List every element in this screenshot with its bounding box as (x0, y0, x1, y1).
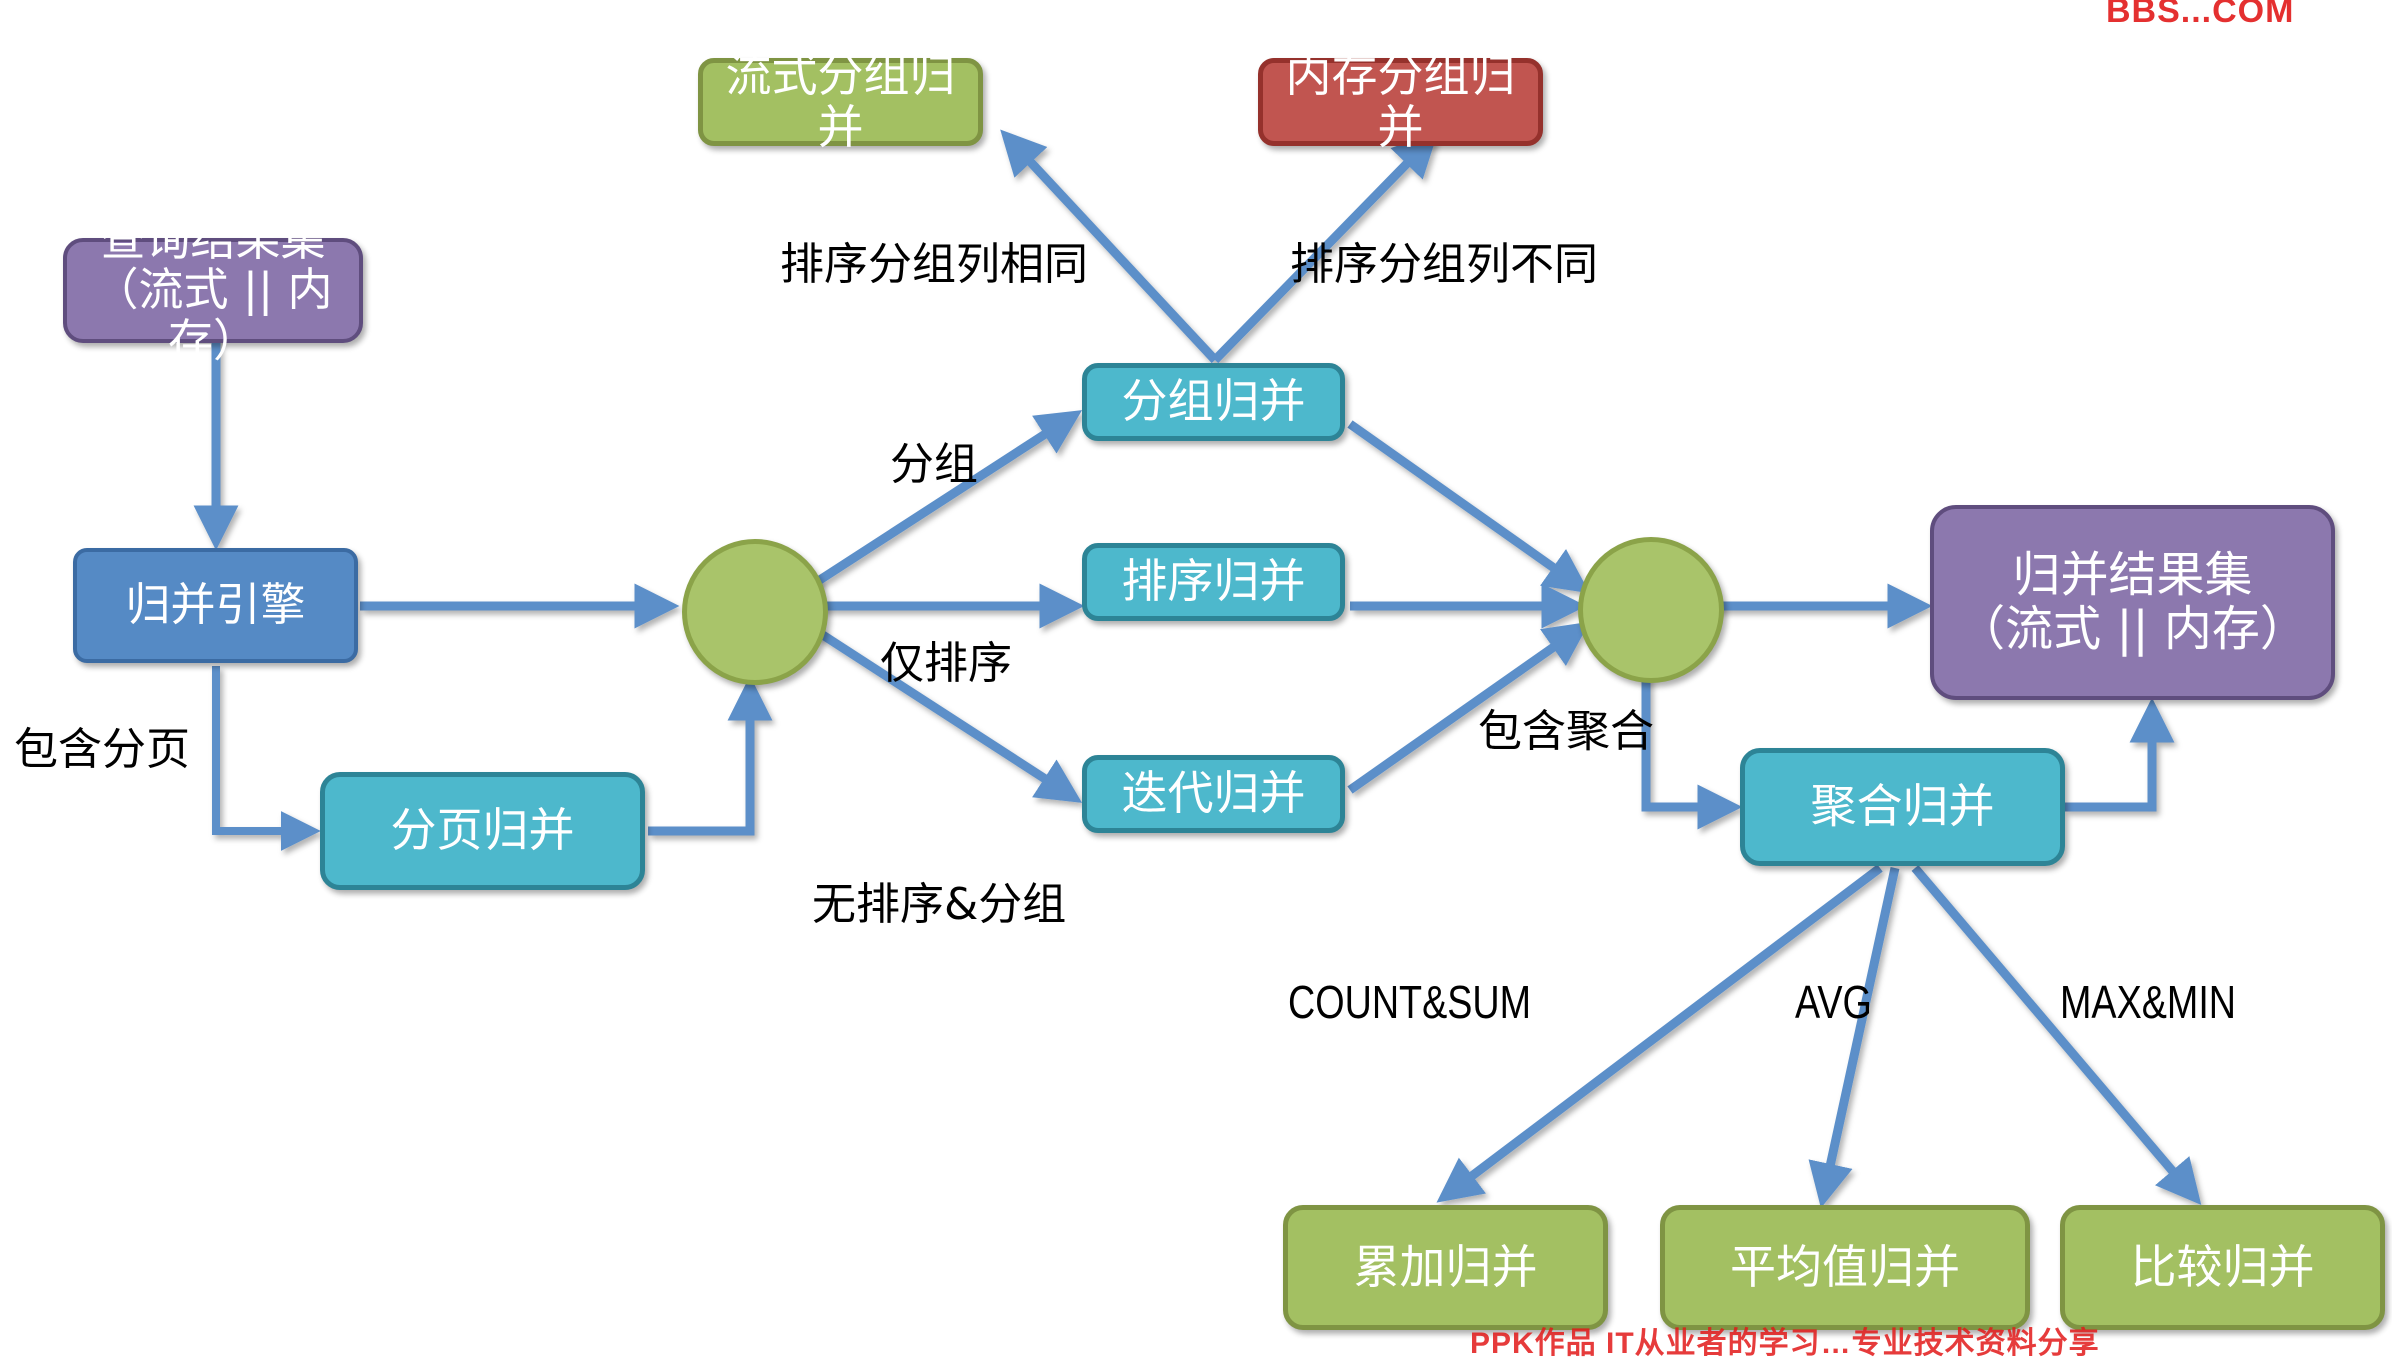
node-stream-group-merge-label: 流式分组归并 (703, 50, 978, 153)
node-query-result-set-label: 查询结果集 （流式 || 内存） (67, 215, 359, 366)
edge-label-max-min: MAX&MIN (2060, 975, 2236, 1029)
edge-right-junction-to-aggregation (1646, 676, 1728, 807)
node-iterator-merge-label: 迭代归并 (1122, 768, 1306, 820)
edge-aggregation-to-accumulation (1448, 868, 1880, 1194)
watermark-top: BBS...COM (2106, 0, 2294, 31)
edge-label-group-by: 分组 (890, 428, 978, 492)
edge-group-to-right-junction (1350, 424, 1578, 585)
node-comparison-merge-label: 比较归并 (2131, 1242, 2315, 1294)
node-merged-result-set[interactable]: 归并结果集 （流式 || 内存） (1930, 505, 2335, 700)
node-pagination-merge-label: 分页归并 (391, 805, 575, 857)
node-stream-group-merge[interactable]: 流式分组归并 (698, 58, 983, 146)
node-iterator-merge[interactable]: 迭代归并 (1082, 755, 1345, 833)
node-junction-left[interactable] (682, 539, 828, 685)
node-aggregation-merge[interactable]: 聚合归并 (1740, 748, 2065, 866)
node-merged-result-set-label: 归并结果集 （流式 || 内存） (1957, 549, 2308, 657)
node-order-merge[interactable]: 排序归并 (1082, 543, 1345, 621)
node-accumulation-merge[interactable]: 累加归并 (1283, 1205, 1608, 1330)
node-query-result-set[interactable]: 查询结果集 （流式 || 内存） (63, 238, 363, 343)
node-order-merge-label: 排序归并 (1122, 556, 1306, 608)
edge-label-different-sort-group-columns: 排序分组列不同 (1290, 228, 1598, 292)
edge-label-contains-pagination: 包含分页 (14, 713, 190, 777)
edge-label-avg: AVG (1795, 975, 1872, 1029)
edge-label-count-sum: COUNT&SUM (1288, 975, 1531, 1029)
node-average-merge[interactable]: 平均值归并 (1660, 1205, 2030, 1330)
diagram-canvas: 查询结果集 （流式 || 内存） 归并引擎 分页归并 分组归并 排序归并 迭代归… (0, 0, 2392, 1360)
edge-pagination-to-junction (648, 690, 750, 831)
edge-label-no-sort-no-group: 无排序&分组 (812, 868, 1066, 932)
edge-aggregation-to-result (2065, 712, 2152, 807)
edge-label-same-sort-group-columns: 排序分组列相同 (780, 228, 1088, 292)
node-memory-group-merge[interactable]: 内存分组归并 (1258, 58, 1543, 146)
edge-aggregation-to-comparison (1915, 868, 2192, 1194)
edge-engine-to-pagination (216, 666, 308, 831)
node-group-merge-label: 分组归并 (1122, 376, 1306, 428)
node-merge-engine[interactable]: 归并引擎 (73, 548, 358, 663)
node-junction-right[interactable] (1578, 537, 1724, 683)
node-merge-engine-label: 归并引擎 (125, 580, 305, 630)
node-comparison-merge[interactable]: 比较归并 (2060, 1205, 2385, 1330)
node-memory-group-merge-label: 内存分组归并 (1263, 50, 1538, 153)
watermark-bottom: PPK作品 IT从业者的学习…专业技术资料分享 (1470, 1318, 2100, 1360)
node-average-merge-label: 平均值归并 (1730, 1242, 1960, 1294)
node-pagination-merge[interactable]: 分页归并 (320, 772, 645, 890)
node-group-merge[interactable]: 分组归并 (1082, 363, 1345, 441)
node-aggregation-merge-label: 聚合归并 (1811, 781, 1995, 833)
edge-label-sort-only: 仅排序 (880, 627, 1012, 691)
edge-label-contains-aggregation: 包含聚合 (1478, 695, 1654, 759)
node-accumulation-merge-label: 累加归并 (1354, 1242, 1538, 1294)
edge-aggregation-to-average (1824, 868, 1895, 1194)
